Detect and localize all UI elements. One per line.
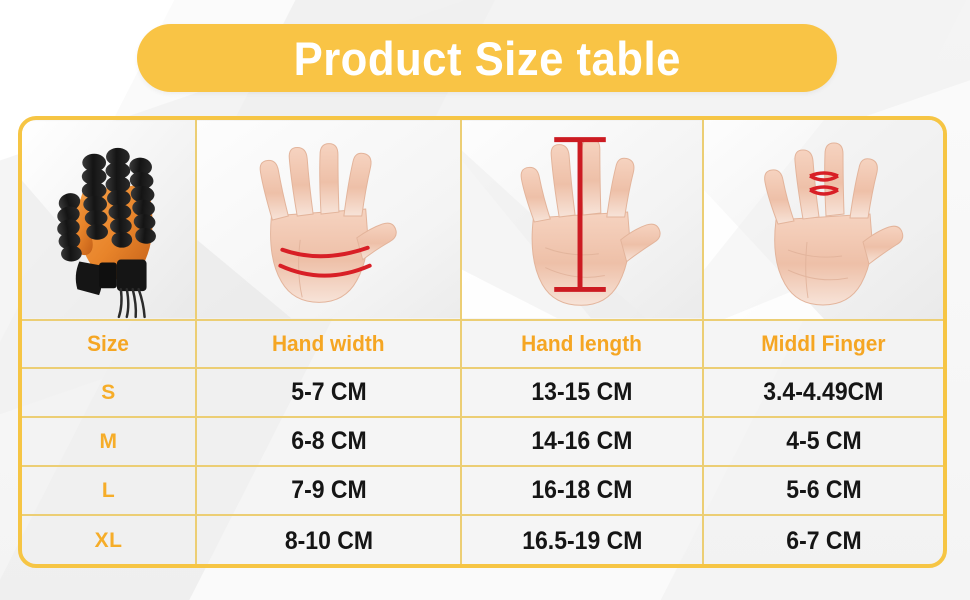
cell-middle-finger: 5-6 CM xyxy=(704,467,943,514)
hand-width-value: 5-7 CM xyxy=(291,378,366,407)
hand-length-value: 16.5-19 CM xyxy=(522,527,642,556)
hand-width-value: 6-8 CM xyxy=(291,427,366,456)
size-table: Size Hand width Hand length Middl Finger… xyxy=(18,116,947,568)
middle-finger-diagram-icon xyxy=(704,120,943,319)
size-value: L xyxy=(102,479,115,503)
hand-length-value: 13-15 CM xyxy=(532,378,633,407)
middle-finger-cell xyxy=(704,120,943,319)
cell-hand-width: 7-9 CM xyxy=(197,467,462,514)
size-value: M xyxy=(100,430,118,454)
page-title-banner: Product Size table xyxy=(137,24,837,92)
cell-middle-finger: 3.4-4.49CM xyxy=(704,369,943,416)
header-label-size: Size xyxy=(88,331,130,357)
cell-size: XL xyxy=(22,516,197,566)
cell-hand-length: 14-16 CM xyxy=(462,418,704,465)
header-cell-size: Size xyxy=(22,321,197,367)
cell-size: L xyxy=(22,467,197,514)
size-value: S xyxy=(101,381,116,405)
cell-hand-width: 5-7 CM xyxy=(197,369,462,416)
cell-size: M xyxy=(22,418,197,465)
header-label-middle-finger: Middl Finger xyxy=(761,331,885,357)
cell-hand-length: 13-15 CM xyxy=(462,369,704,416)
table-row: XL 8-10 CM 16.5-19 CM 6-7 CM xyxy=(22,516,943,566)
header-cell-middle-finger: Middl Finger xyxy=(704,321,943,367)
cell-middle-finger: 4-5 CM xyxy=(704,418,943,465)
header-cell-hand-width: Hand width xyxy=(197,321,462,367)
illustration-row xyxy=(22,120,943,319)
hand-length-diagram-icon xyxy=(462,120,702,319)
cell-hand-width: 6-8 CM xyxy=(197,418,462,465)
hand-width-value: 7-9 CM xyxy=(291,476,366,505)
table-row: M 6-8 CM 14-16 CM 4-5 CM xyxy=(22,418,943,467)
table-header-row: Size Hand width Hand length Middl Finger xyxy=(22,319,943,369)
product-size-table-page: Product Size table xyxy=(0,0,970,600)
cell-hand-length: 16-18 CM xyxy=(462,467,704,514)
hand-length-value: 16-18 CM xyxy=(532,476,633,505)
cell-hand-width: 8-10 CM xyxy=(197,516,462,566)
middle-finger-value: 6-7 CM xyxy=(786,527,861,556)
middle-finger-value: 4-5 CM xyxy=(786,427,861,456)
hand-length-cell xyxy=(462,120,704,319)
cell-size: S xyxy=(22,369,197,416)
size-value: XL xyxy=(95,529,123,553)
header-cell-hand-length: Hand length xyxy=(462,321,704,367)
hand-width-diagram-icon xyxy=(197,120,460,319)
hand-width-cell xyxy=(197,120,462,319)
header-label-hand-length: Hand length xyxy=(522,331,643,357)
product-photo-cell xyxy=(22,120,197,319)
cell-hand-length: 16.5-19 CM xyxy=(462,516,704,566)
table-row: L 7-9 CM 16-18 CM 5-6 CM xyxy=(22,467,943,516)
table-row: S 5-7 CM 13-15 CM 3.4-4.49CM xyxy=(22,369,943,418)
hand-length-value: 14-16 CM xyxy=(532,427,633,456)
product-photo-icon xyxy=(22,120,195,319)
cell-middle-finger: 6-7 CM xyxy=(704,516,943,566)
page-title: Product Size table xyxy=(293,31,680,86)
middle-finger-value: 5-6 CM xyxy=(786,476,861,505)
header-label-hand-width: Hand width xyxy=(272,331,385,357)
size-table-body: Size Hand width Hand length Middl Finger… xyxy=(22,120,943,564)
middle-finger-value: 3.4-4.49CM xyxy=(763,378,883,407)
hand-width-value: 8-10 CM xyxy=(284,527,372,556)
